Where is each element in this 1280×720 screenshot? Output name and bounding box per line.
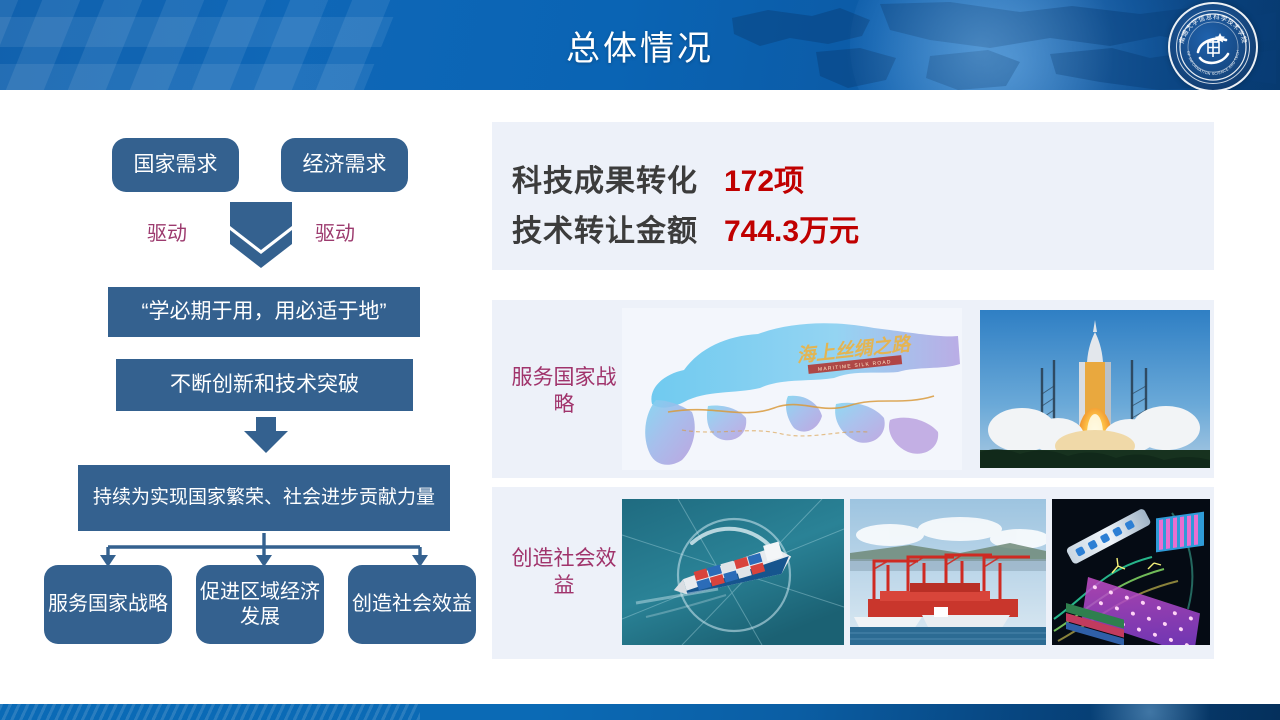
flow-label-drive-right: 驱动 xyxy=(315,217,355,246)
flowchart: 国家需求 经济需求 驱动 驱动 “学必期于用，用必适于地” 不断创新和技术突破 … xyxy=(0,95,480,670)
stat-label-achievement-transfer: 科技成果转化 xyxy=(512,156,724,200)
slide-footer xyxy=(0,704,1280,720)
page-title: 总体情况 xyxy=(0,0,1280,90)
double-chevron-down-icon xyxy=(222,200,300,268)
flow-node-outcome-national-strategy[interactable]: 服务国家战略 xyxy=(44,565,172,644)
stat-value-achievement-transfer: 172项 xyxy=(724,156,804,200)
statistics-list: 科技成果转化 172项 技术转让金额 744.3万元 xyxy=(512,156,859,256)
stat-row: 技术转让金额 744.3万元 xyxy=(512,206,859,250)
panel-label-line-1: 创造社会效益 xyxy=(512,547,617,597)
flow-node-national-need[interactable]: 国家需求 xyxy=(112,138,239,192)
rocket-launch-photo xyxy=(980,310,1210,468)
flow-node-economic-need[interactable]: 经济需求 xyxy=(281,138,408,192)
footer-light-sheen xyxy=(1060,704,1240,720)
container-ship-aerial-photo xyxy=(622,499,844,645)
panel-label-national-strategy: 服务国家战略 xyxy=(508,364,620,419)
school-seal-logo: 南通大学信息科学技术学院 SCHOOL OF INFORMATION SCIEN… xyxy=(1168,2,1258,90)
flow-node-breakthrough[interactable]: 不断创新和技术突破 xyxy=(116,359,413,411)
stat-row: 科技成果转化 172项 xyxy=(512,156,859,200)
maritime-silk-road-map: 海上丝绸之路 MARITIME SILK ROAD xyxy=(622,308,962,470)
nanomaterial-illustration xyxy=(1052,499,1210,645)
port-cranes-photo xyxy=(850,499,1046,645)
panel-label-social-benefit: 创造社会效益 xyxy=(508,545,620,600)
stat-value-transfer-amount: 744.3万元 xyxy=(724,206,859,250)
national-strategy-panel: 服务国家战略 xyxy=(492,300,1214,478)
social-benefit-panel: 创造社会效益 xyxy=(492,487,1214,659)
slide-header: 总体情况 南通大学信息科学技术学院 SCHOOL OF INFORMATION … xyxy=(0,0,1280,90)
footer-stripe-pattern xyxy=(0,704,420,720)
panel-label-line-1: 服务国家战略 xyxy=(512,366,617,416)
flow-node-contribution[interactable]: 持续为实现国家繁荣、社会进步贡献力量 xyxy=(78,465,450,531)
flow-label-drive-left: 驱动 xyxy=(147,217,187,246)
statistics-panel: 科技成果转化 172项 技术转让金额 744.3万元 xyxy=(492,122,1214,270)
stat-label-transfer-amount: 技术转让金额 xyxy=(512,206,724,250)
slide-root: 总体情况 南通大学信息科学技术学院 SCHOOL OF INFORMATION … xyxy=(0,0,1280,720)
flow-node-outcome-social-benefit[interactable]: 创造社会效益 xyxy=(348,565,476,644)
flow-node-outcome-regional-economy[interactable]: 促进区域经济发展 xyxy=(196,565,324,644)
flow-node-motto[interactable]: “学必期于用，用必适于地” xyxy=(108,287,420,337)
